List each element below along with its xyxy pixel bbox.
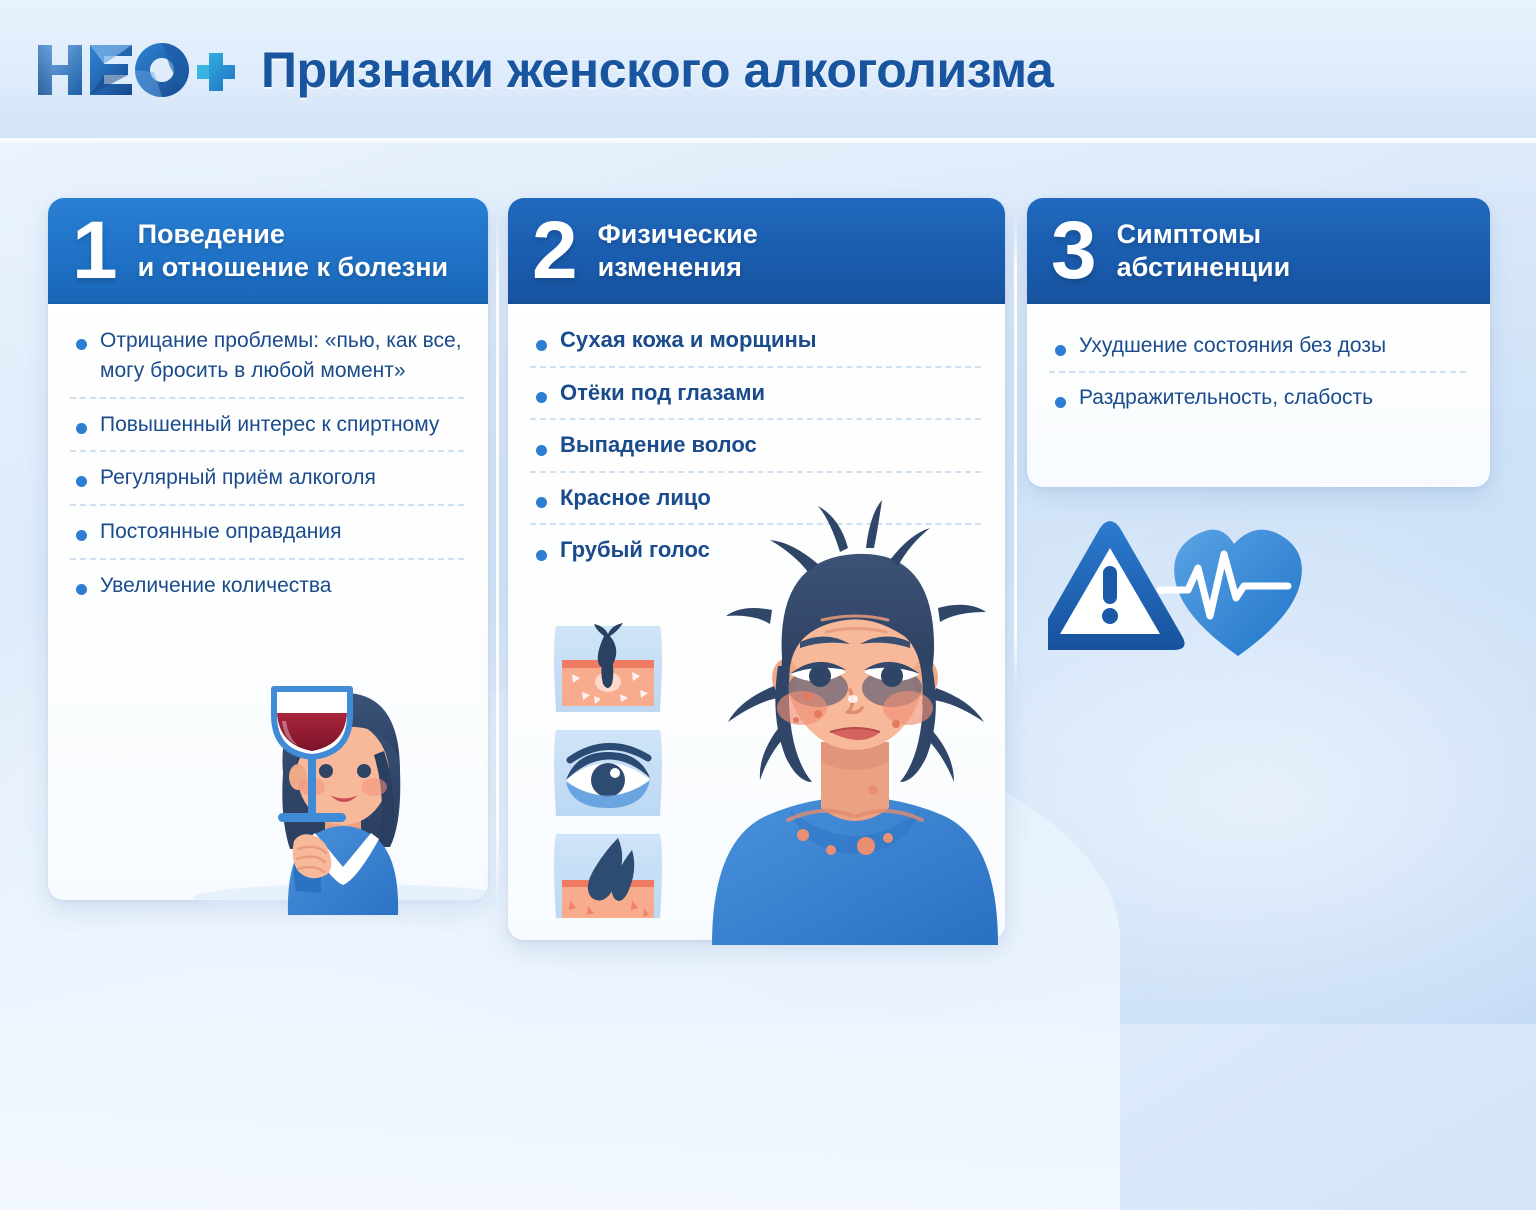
card-1-body: Отрицание проблемы: «пью, как все, могу …	[48, 304, 488, 601]
list-item: Сухая кожа и морщины	[530, 326, 981, 368]
warning-and-heartbeat-illustration	[1048, 512, 1328, 672]
bullet-dot-icon	[1055, 397, 1066, 408]
bullet-separator	[1049, 371, 1466, 373]
bullet-separator	[530, 418, 981, 420]
list-item: Повышенный интерес к спиртному	[70, 410, 464, 453]
page-title: Признаки женского алкоголизма	[261, 41, 1053, 99]
bullet-dot-icon	[536, 445, 547, 456]
bullet-separator	[530, 366, 981, 368]
card-divider-2	[1014, 210, 1017, 690]
bullet-text: Регулярный приём алкоголя	[100, 463, 464, 493]
card-3-title-line2: абстиненции	[1117, 251, 1291, 284]
card-3-bullet-list: Ухудшение состояния без дозы Раздражител…	[1049, 332, 1466, 413]
card-1-title-line2: и отношение к болезни	[138, 251, 449, 284]
list-item: Грубый голос	[530, 536, 981, 565]
bullet-dot-icon	[76, 476, 87, 487]
card-withdrawal-symptoms[interactable]: 3 Симптомы абстиненции Ухудшение состоян…	[1027, 198, 1490, 487]
bullet-text: Постоянные оправдания	[100, 517, 464, 547]
bullet-text: Выпадение волос	[560, 431, 981, 460]
bullet-text: Сухая кожа и морщины	[560, 326, 981, 355]
bullet-dot-icon	[76, 584, 87, 595]
bullet-text: Ухудшение состояния без дозы	[1079, 332, 1466, 360]
card-3-title: Симптомы абстиненции	[1117, 218, 1291, 284]
page-header: Признаки женского алкоголизма	[0, 0, 1536, 140]
infographic-canvas: Признаки женского алкоголизма 1 Поведени…	[0, 0, 1536, 1024]
bullet-text: Отрицание проблемы: «пью, как все, могу …	[100, 326, 464, 386]
bullet-dot-icon	[76, 530, 87, 541]
card-2-body: Сухая кожа и морщины Отёки под глазами В…	[508, 304, 1005, 565]
bullet-dot-icon	[1055, 345, 1066, 356]
card-divider-1	[496, 210, 499, 910]
bullet-separator	[70, 450, 464, 452]
heartbeat-heart-icon	[1160, 530, 1302, 656]
list-item: Увеличение количества	[70, 571, 464, 601]
bullet-separator	[70, 504, 464, 506]
neo-plus-logo	[34, 39, 239, 101]
card-2-title-line1: Физические	[598, 218, 758, 251]
bullet-text: Увеличение количества	[100, 571, 464, 601]
card-2-title: Физические изменения	[598, 218, 758, 284]
card-3-header: 3 Симптомы абстиненции	[1027, 198, 1490, 304]
bullet-separator	[530, 523, 981, 525]
bullet-dot-icon	[76, 339, 87, 350]
list-item: Постоянные оправдания	[70, 517, 464, 560]
card-3-title-line1: Симптомы	[1117, 218, 1291, 251]
bullet-dot-icon	[536, 550, 547, 561]
bullet-dot-icon	[536, 392, 547, 403]
bullet-dot-icon	[536, 497, 547, 508]
bullet-separator	[530, 471, 981, 473]
list-item: Отёки под глазами	[530, 379, 981, 421]
warning-triangle-icon	[1048, 521, 1185, 650]
card-2-bullet-list: Сухая кожа и морщины Отёки под глазами В…	[530, 326, 981, 565]
list-item: Выпадение волос	[530, 431, 981, 473]
card-3-number: 3	[1051, 219, 1097, 283]
bullet-dot-icon	[536, 340, 547, 351]
bullet-text: Грубый голос	[560, 536, 981, 565]
list-item: Раздражительность, слабость	[1049, 384, 1466, 412]
list-item: Ухудшение состояния без дозы	[1049, 332, 1466, 373]
card-behaviour[interactable]: 1 Поведение и отношение к болезни Отрица…	[48, 198, 488, 900]
card-1-header: 1 Поведение и отношение к болезни	[48, 198, 488, 304]
bullet-separator	[70, 397, 464, 399]
card-physical-changes[interactable]: 2 Физические изменения Сухая кожа и морщ…	[508, 198, 1005, 940]
bullet-text: Повышенный интерес к спиртному	[100, 410, 464, 440]
card-1-number: 1	[72, 219, 118, 283]
list-item: Красное лицо	[530, 484, 981, 526]
card-1-title-line1: Поведение	[138, 218, 449, 251]
list-item: Регулярный приём алкоголя	[70, 463, 464, 506]
bullet-separator	[70, 558, 464, 560]
list-item: Отрицание проблемы: «пью, как все, могу …	[70, 326, 464, 399]
header-divider	[0, 138, 1536, 143]
bullet-dot-icon	[76, 423, 87, 434]
card-3-body: Ухудшение состояния без дозы Раздражител…	[1027, 304, 1490, 413]
card-2-header: 2 Физические изменения	[508, 198, 1005, 304]
bullet-text: Отёки под глазами	[560, 379, 981, 408]
card-1-bullet-list: Отрицание проблемы: «пью, как все, могу …	[70, 326, 464, 601]
bullet-text: Красное лицо	[560, 484, 981, 513]
card-2-number: 2	[532, 219, 578, 283]
bullet-text: Раздражительность, слабость	[1079, 384, 1466, 412]
card-2-title-line2: изменения	[598, 251, 758, 284]
card-1-title: Поведение и отношение к болезни	[138, 218, 449, 284]
